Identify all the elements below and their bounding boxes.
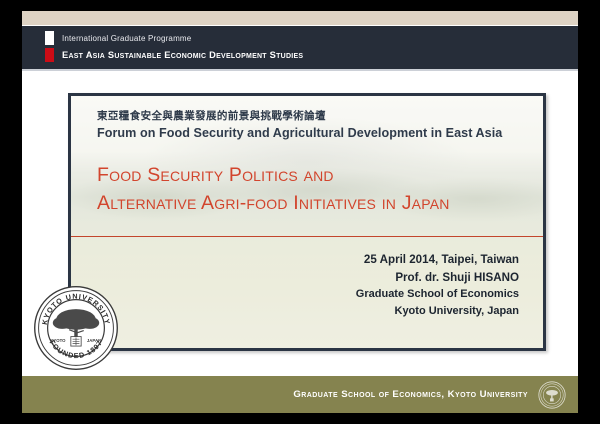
programme-label: International Graduate Programme: [62, 34, 191, 43]
studies-label: East Asia Sustainable Economic Developme…: [62, 50, 303, 60]
main-title-line-1: Food Security Politics and: [97, 162, 521, 190]
footer-institution-label: Graduate School of Economics, Kyoto Univ…: [293, 389, 528, 400]
header-programme-row: International Graduate Programme: [45, 31, 191, 45]
svg-text:JAPAN: JAPAN: [87, 338, 101, 343]
white-chip-icon: [45, 31, 54, 45]
forum-title-english: Forum on Food Security and Agricultural …: [97, 126, 521, 140]
slide-footer-bar: Graduate School of Economics, Kyoto Univ…: [22, 376, 578, 413]
page-frame: International Graduate Programme East As…: [0, 0, 600, 424]
slide-content-box: 東亞糧食安全與農業發展的前景與挑戰學術論壇 Forum on Food Secu…: [68, 93, 546, 351]
svg-text:KYOTO: KYOTO: [50, 338, 66, 343]
main-title-line-2: Alternative Agri-food Initiatives in Jap…: [97, 190, 521, 218]
kyoto-university-seal-icon: KYOTO UNIVERSITY FOUNDED 1897 KYOTO JAPA…: [33, 285, 119, 371]
kyoto-university-seal-small-icon: [538, 381, 566, 409]
presentation-slide: International Graduate Programme East As…: [22, 11, 578, 413]
byline-block: 25 April 2014, Taipei, Taiwan Prof. dr. …: [356, 251, 519, 320]
main-title: Food Security Politics and Alternative A…: [97, 162, 521, 217]
byline-date-place: 25 April 2014, Taipei, Taiwan: [356, 251, 519, 269]
header-studies-row: East Asia Sustainable Economic Developme…: [45, 48, 303, 62]
forum-title-chinese: 東亞糧食安全與農業發展的前景與挑戰學術論壇: [97, 110, 521, 123]
byline-department: Graduate School of Economics: [356, 286, 519, 303]
byline-university: Kyoto University, Japan: [356, 303, 519, 320]
top-accent-strip: [22, 11, 578, 25]
red-chip-icon: [45, 48, 54, 62]
slide-header-band: International Graduate Programme East As…: [22, 26, 578, 69]
byline-presenter: Prof. dr. Shuji HISANO: [356, 269, 519, 287]
